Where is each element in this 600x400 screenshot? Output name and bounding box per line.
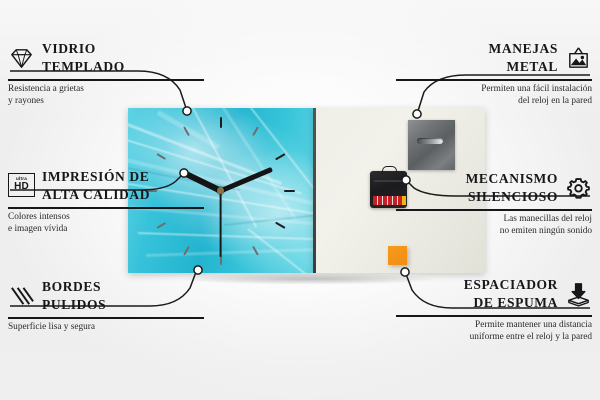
callout-desc-line1: Permite mantener una distancia [475,320,592,330]
polished-edges-icon [8,283,35,310]
callout-divider [8,79,204,81]
callout-header: ESPACIADOR DE ESPUMA [396,276,592,312]
callout-desc-line2: y rayones [8,96,44,106]
callout-mecanismo-silencioso[interactable]: MECANISMO SILENCIOSO Las manecillas del … [396,170,592,237]
hotspot-espaciador[interactable] [401,268,409,276]
infographic-canvas: VIDRIO TEMPLADO Resistencia a grietas y … [0,0,600,400]
callout-divider [396,79,592,81]
callout-impresion-alta-calidad[interactable]: ultra HD IMPRESIÓN DE ALTA CALIDAD Color… [8,168,204,235]
callout-title: BORDES PULIDOS [42,278,106,314]
gear-icon [565,175,592,202]
callout-title-line1: IMPRESIÓN DE [42,169,149,184]
callout-title-line2: PULIDOS [42,297,106,312]
hotspot-vidrio[interactable] [183,107,191,115]
callout-title-line2: METAL [506,59,558,74]
callout-desc-line2: no emiten ningún sonido [500,226,592,236]
callout-header: ultra HD IMPRESIÓN DE ALTA CALIDAD [8,168,204,204]
callout-desc-line1: Las manecillas del reloj [503,214,592,224]
callout-divider [396,209,592,211]
callout-header: BORDES PULIDOS [8,278,204,314]
hotspot-manejas[interactable] [413,110,421,118]
callout-desc-line2: uniforme entre el reloj y la pared [470,332,592,342]
callout-title: VIDRIO TEMPLADO [42,40,125,76]
callout-bordes-pulidos[interactable]: BORDES PULIDOS Superficie lisa y segura [8,278,204,334]
callout-vidrio-templado[interactable]: VIDRIO TEMPLADO Resistencia a grietas y … [8,40,204,107]
callout-title-line1: BORDES [42,279,101,294]
callout-desc-line2: del reloj en la pared [518,96,592,106]
callout-description: Superficie lisa y segura [8,322,204,333]
callout-header: VIDRIO TEMPLADO [8,40,204,76]
callout-desc-line1: Permiten una fácil instalación [481,84,592,94]
callout-title: IMPRESIÓN DE ALTA CALIDAD [42,168,150,204]
callout-description: Las manecillas del reloj no emiten ningú… [396,214,592,237]
foam-spacer-arrow-icon [565,281,592,308]
callout-header: MECANISMO SILENCIOSO [396,170,592,206]
ultra-hd-badge-icon: ultra HD [8,173,35,200]
callout-divider [8,207,204,209]
callout-header: MANEJAS METAL [396,40,592,76]
callout-espaciador-de-espuma[interactable]: ESPACIADOR DE ESPUMA Permite mantener un… [396,276,592,343]
callout-title: MECANISMO SILENCIOSO [466,170,558,206]
callout-desc-line1: Colores intensos [8,212,70,222]
hotspot-bordes[interactable] [194,266,202,274]
callout-title-line1: MECANISMO [466,171,558,186]
callout-title-line2: TEMPLADO [42,59,125,74]
diamond-icon [8,45,35,72]
callout-description: Colores intensos e imagen vívida [8,212,204,235]
callout-desc-line1: Resistencia a grietas [8,84,84,94]
callout-title-line1: ESPACIADOR [464,277,558,292]
callout-title-line2: ALTA CALIDAD [42,187,150,202]
picture-frame-hanging-icon [565,45,592,72]
callout-divider [8,317,204,319]
callout-description: Resistencia a grietas y rayones [8,84,204,107]
callout-description: Permite mantener una distancia uniforme … [396,320,592,343]
callout-title: ESPACIADOR DE ESPUMA [464,276,558,312]
callout-title-line2: SILENCIOSO [468,189,558,204]
callout-desc-line1: Superficie lisa y segura [8,322,95,332]
callout-title: MANEJAS METAL [489,40,558,76]
callout-divider [396,315,592,317]
callout-description: Permiten una fácil instalación del reloj… [396,84,592,107]
callout-title-line2: DE ESPUMA [473,295,558,310]
callout-title-line1: VIDRIO [42,41,96,56]
hd-badge-main: HD [14,182,29,192]
callout-manejas-metal[interactable]: MANEJAS METAL Permiten una fácil instala… [396,40,592,107]
callout-title-line1: MANEJAS [489,41,558,56]
callout-desc-line2: e imagen vívida [8,224,67,234]
